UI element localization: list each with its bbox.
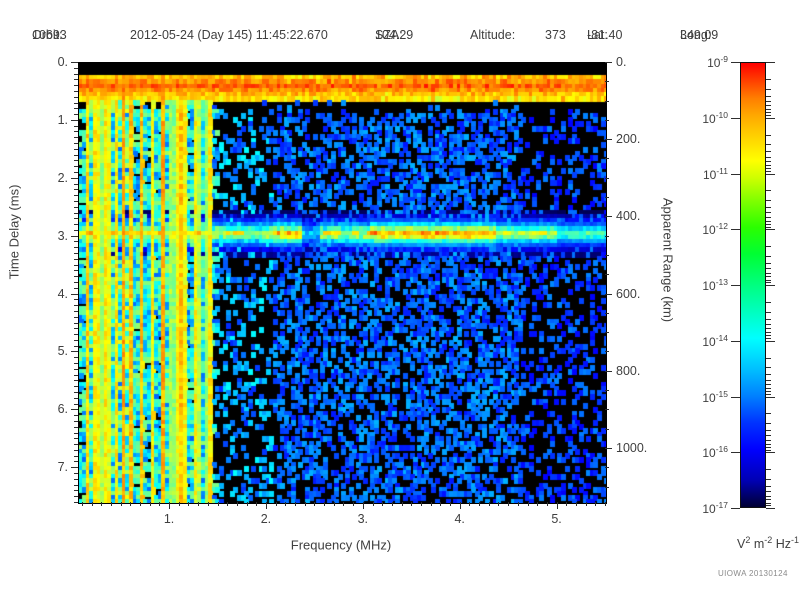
y-left-tick [74,172,78,173]
colorbar-tick [766,256,771,257]
y-right-tick [605,120,609,121]
colorbar-tick [766,394,771,395]
x-tick [411,502,412,506]
y-left-tick [74,189,78,190]
colorbar-tick [766,174,775,175]
y-right-tick-label-4: 800. [616,364,640,378]
x-tick [489,502,490,506]
colorbar-tick [766,112,771,113]
colorbar-tick-label-2: 10-11 [703,166,728,182]
x-tick [343,502,344,506]
y-left-tick-label-1: 1. [58,113,68,127]
cb-exp: -9 [720,54,728,64]
y-left-tick-label-2: 2. [58,171,68,185]
cb-exp: -11 [716,166,728,176]
x-tick [305,502,306,506]
y-left-tick [74,380,78,381]
x-tick [402,502,403,506]
y-left-tick [74,427,78,428]
x-tick-label-2: 2. [261,512,271,526]
colorbar-tick [766,505,771,506]
y-right-tick [605,101,609,102]
colorbar-tick-left [731,508,740,509]
y-left-tick [74,74,78,75]
colorbar-tick [766,263,771,264]
y-right-tick [605,255,609,256]
y-left-tick [74,485,78,486]
x-tick [440,502,441,506]
x-tick [566,502,567,506]
y-left-tick [74,288,78,289]
colorbar-tick [766,161,771,162]
y-right-tick-label-2: 400. [616,209,640,223]
colorbar-tick [766,367,771,368]
colorbar-tick [766,324,771,325]
colorbar-tick [766,229,775,230]
x-tick [518,502,519,506]
colorbar-tick [766,276,771,277]
y-left-tick [74,415,78,416]
colorbar-tick-left [731,452,740,453]
x-tick [188,502,189,506]
colorbar-tick [766,450,771,451]
y-left-tick [74,346,78,347]
y-left-tick-label-4: 4. [58,287,68,301]
x-tick [557,502,558,509]
colorbar-tick [766,190,771,191]
y-left-tick [74,79,78,80]
sza-value: 104.29 [375,28,413,42]
colorbar-tick [766,62,775,63]
y-left-tick [74,259,78,260]
cb-base: 10 [702,335,715,349]
y-left-tick [74,68,78,69]
colorbar-tick [766,273,771,274]
y-left-tick [74,450,78,451]
y-right-tick [605,274,609,275]
y-left-tick [74,195,78,196]
colorbar-tick [766,479,771,480]
colorbar-tick [766,224,771,225]
ionogram-plot-area [78,62,607,504]
x-tick [169,502,170,509]
colorbar-tick [766,89,771,90]
y-left-tick [71,236,78,237]
ionogram-heatmap [79,63,606,503]
x-tick [421,502,422,506]
y-left-tick [74,392,78,393]
y-left-tick [74,108,78,109]
y-left-tick [71,62,78,63]
cb-base: 10 [702,446,715,460]
colorbar-tick [766,508,775,509]
x-tick [179,502,180,506]
y-left-tick [74,473,78,474]
y-right-tick [605,313,609,314]
colorbar-tick [766,452,775,453]
y-left-tick [74,461,78,462]
y-left-tick [74,317,78,318]
x-tick-label-1: 1. [164,512,174,526]
colorbar-tick [766,503,771,504]
x-tick [285,502,286,506]
cb-exp: -15 [716,389,728,399]
y-left-tick [74,85,78,86]
colorbar-tick [766,280,771,281]
colorbar-tick [766,391,771,392]
colorbar-tick-left [731,285,740,286]
colorbar-unit-label: V2 m-2 Hz-1 [737,535,799,551]
x-tick [353,502,354,506]
colorbar-tick [766,496,771,497]
x-tick [547,502,548,506]
longitude-value: 349.09 [680,28,718,42]
x-tick [247,502,248,506]
y-axis-right-title: Apparent Range (km) [661,198,676,322]
x-tick-label-4: 4. [454,512,464,526]
y-right-tick [605,216,612,217]
y-left-tick [74,328,78,329]
altitude-label: Altitude: [470,28,515,42]
colorbar-tick-label-8: 10-17 [702,500,728,516]
colorbar-tick [766,430,771,431]
y-left-tick [74,241,78,242]
y-left-tick-label-3: 3. [58,229,68,243]
y-left-tick [74,334,78,335]
y-right-tick [605,158,609,159]
colorbar-tick [766,319,771,320]
colorbar-tick [766,144,771,145]
y-right-tick [605,429,609,430]
colorbar-tick-left [731,229,740,230]
colorbar-tick [766,157,771,158]
y-axis-left-title: Time Delay (ms) [7,185,22,280]
cb-base: 10 [707,56,720,70]
x-tick [140,502,141,506]
y-left-tick [74,438,78,439]
y-left-tick [74,253,78,254]
y-left-tick [74,502,78,503]
colorbar-tick [766,380,771,381]
x-tick [101,502,102,506]
colorbar-tick [766,328,771,329]
x-tick [150,502,151,506]
y-right-tick [605,371,612,372]
header-metadata: Orbit: 10693 2012-05-24 (Day 145) 11:45:… [0,28,800,46]
colorbar-tick [766,486,771,487]
x-tick [479,502,480,506]
x-tick [334,502,335,506]
colorbar-tick [766,413,771,414]
x-tick [121,502,122,506]
x-tick [295,502,296,506]
x-tick [276,502,277,506]
colorbar-tick [766,312,771,313]
y-left-tick [74,386,78,387]
y-right-tick [605,448,612,449]
orbit-value: 10693 [32,28,67,42]
y-left-tick [74,276,78,277]
x-tick [460,502,461,509]
colorbar-tick [766,268,771,269]
colorbar-tick [766,212,771,213]
colorbar-tick [766,332,771,333]
x-tick [528,502,529,506]
colorbar-tick-label-0: 10-9 [707,54,728,70]
cb-exp: -17 [716,500,728,510]
y-left-tick [74,213,78,214]
y-left-tick [74,218,78,219]
y-left-tick [74,433,78,434]
colorbar-tick [766,282,771,283]
colorbar-tick [766,440,771,441]
latitude-value: -81.40 [587,28,622,42]
y-right-tick [605,139,612,140]
y-left-tick [74,166,78,167]
y-left-tick [74,143,78,144]
y-right-tick-label-0: 0. [616,55,626,69]
y-left-tick-label-0: 0. [58,55,68,69]
y-left-tick [74,421,78,422]
x-tick [595,502,596,506]
colorbar-tick [766,335,771,336]
colorbar-tick [766,118,775,119]
colorbar-tick [766,168,771,169]
y-left-tick [74,207,78,208]
colorbar-tick [766,165,771,166]
x-tick [363,502,364,509]
colorbar-tick [766,374,771,375]
colorbar-tick [766,447,771,448]
x-tick [130,502,131,506]
x-tick [256,502,257,506]
colorbar-tick [766,115,771,116]
x-tick [324,502,325,506]
colorbar-tick [766,338,771,339]
y-right-tick [605,487,609,488]
x-tick [218,502,219,506]
y-left-tick [74,404,78,405]
colorbar-tick [766,423,771,424]
y-right-tick [605,294,612,295]
y-left-tick [74,91,78,92]
footer-credit: UIOWA 20130124 [718,569,788,578]
y-left-tick [74,456,78,457]
cb-exp: -14 [716,333,728,343]
colorbar-tick [766,499,771,500]
y-left-tick [74,270,78,271]
cb-base: 10 [702,223,715,237]
y-right-tick [605,467,609,468]
y-right-tick-label-1: 200. [616,132,640,146]
colorbar-tick [766,207,771,208]
x-tick [92,502,93,506]
y-left-tick [74,369,78,370]
colorbar-tick [766,171,771,172]
x-tick [314,502,315,506]
y-right-tick [605,236,609,237]
y-right-tick [605,390,609,391]
y-left-tick-label-7: 7. [58,460,68,474]
cb-exp: -16 [716,444,728,454]
cb-exp: -12 [716,221,728,231]
y-left-tick [74,398,78,399]
unit-m: m [750,537,764,551]
y-right-tick-label-3: 600. [616,287,640,301]
x-tick [605,502,606,506]
y-right-tick [605,178,609,179]
y-right-tick-label-5: 1000. [616,441,647,455]
colorbar-tick-left [731,62,740,63]
colorbar-tick-left [731,174,740,175]
observation-datetime: 2012-05-24 (Day 145) 11:45:22.670 [130,28,328,42]
colorbar-tick [766,109,771,110]
colorbar-tick [766,221,771,222]
y-left-tick-label-5: 5. [58,344,68,358]
y-left-tick [74,160,78,161]
y-left-tick [74,375,78,376]
y-left-tick [74,444,78,445]
y-left-tick [74,103,78,104]
x-tick [208,502,209,506]
y-left-tick [74,265,78,266]
x-tick [498,502,499,506]
y-left-tick [74,201,78,202]
colorbar-tick [766,341,775,342]
colorbar-tick-label-1: 10-10 [702,110,728,126]
y-left-tick [74,282,78,283]
colorbar-tick-label-3: 10-12 [702,221,728,237]
x-tick [450,502,451,506]
x-tick [82,502,83,506]
unit-hz-exp: -1 [791,535,799,545]
cb-base: 10 [702,502,715,516]
y-left-tick [74,340,78,341]
x-tick [266,502,267,509]
y-left-tick [74,184,78,185]
y-left-tick [74,131,78,132]
y-left-tick [74,490,78,491]
x-tick [227,502,228,506]
colorbar-tick [766,491,771,492]
colorbar-tick-label-6: 10-15 [702,389,728,405]
colorbar-tick [766,96,771,97]
y-left-tick [71,467,78,468]
unit-hz: Hz [772,537,791,551]
cb-exp: -13 [716,277,728,287]
colorbar-tick [766,200,771,201]
colorbar-tick [766,469,771,470]
colorbar-tick-label-4: 10-13 [702,277,728,293]
y-left-tick [74,247,78,248]
y-left-tick [74,149,78,150]
y-left-tick [74,357,78,358]
y-left-tick [71,178,78,179]
y-left-tick [74,224,78,225]
y-left-tick [74,311,78,312]
y-left-tick [74,126,78,127]
y-right-tick [605,409,609,410]
x-tick [392,502,393,506]
colorbar-tick [766,101,771,102]
y-left-tick [74,496,78,497]
y-left-tick [74,97,78,98]
y-left-tick [74,305,78,306]
colorbar-tick [766,227,771,228]
y-left-tick-label-6: 6. [58,402,68,416]
x-tick [469,502,470,506]
y-right-tick [605,197,609,198]
colorbar-tick-label-5: 10-14 [702,333,728,349]
x-tick [111,502,112,506]
x-tick [373,502,374,506]
y-right-tick [605,351,609,352]
colorbar-tick-label-7: 10-16 [702,444,728,460]
y-left-tick [71,409,78,410]
colorbar-tick [766,151,771,152]
colorbar-tick [766,217,771,218]
colorbar-tick [766,358,771,359]
x-tick-label-5: 5. [551,512,561,526]
x-tick [237,502,238,506]
y-left-tick [74,137,78,138]
colorbar-tick [766,246,771,247]
y-right-tick [605,81,609,82]
x-tick-label-3: 3. [358,512,368,526]
colorbar-gradient [740,62,766,508]
y-left-tick [74,479,78,480]
colorbar-tick [766,388,771,389]
x-tick [431,502,432,506]
colorbar-tick-left [731,397,740,398]
y-left-tick [74,230,78,231]
colorbar-tick [766,397,775,398]
x-tick [586,502,587,506]
colorbar-tick-left [731,118,740,119]
y-left-tick [74,363,78,364]
y-right-tick [605,62,612,63]
y-left-tick [74,299,78,300]
x-tick [382,502,383,506]
x-axis-title: Frequency (MHz) [291,538,391,553]
y-left-tick [71,294,78,295]
x-tick [198,502,199,506]
colorbar-tick [766,302,771,303]
colorbar-tick-left [731,341,740,342]
y-right-tick [605,332,609,333]
x-tick [576,502,577,506]
x-tick [159,502,160,506]
x-tick [537,502,538,506]
colorbar-tick [766,435,771,436]
colorbar-tick [766,444,771,445]
cb-exp: -10 [716,110,728,120]
altitude-value: 373 [545,28,566,42]
cb-base: 10 [702,279,715,293]
x-tick [508,502,509,506]
colorbar-tick [766,79,771,80]
cb-base: 10 [703,168,716,182]
y-left-tick [74,323,78,324]
colorbar-tick [766,135,771,136]
ionogram-page: Orbit: 10693 2012-05-24 (Day 145) 11:45:… [0,0,800,600]
y-left-tick [74,114,78,115]
cb-base: 10 [702,112,715,126]
colorbar-tick [766,285,775,286]
cb-base: 10 [702,391,715,405]
y-left-tick [71,351,78,352]
colorbar-tick [766,105,771,106]
